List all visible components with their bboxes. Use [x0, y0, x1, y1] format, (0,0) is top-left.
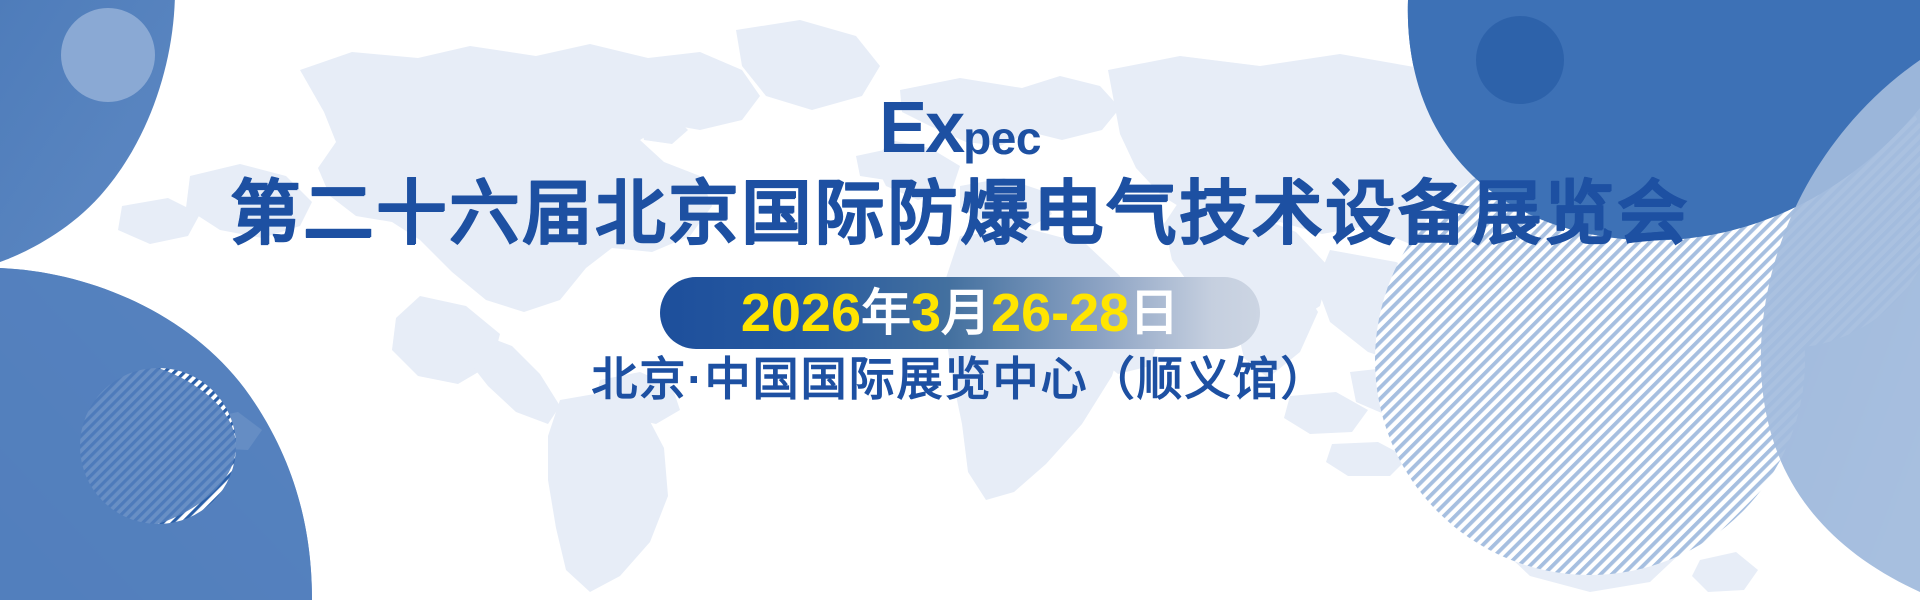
- date-year-unit: 年: [861, 285, 911, 341]
- date-badge-block: 2026年3月26-28日: [0, 277, 1920, 349]
- venue-text: 北京·中国国际展览中心（顺义馆）: [591, 356, 1328, 402]
- page-title: 第二十六届北京国际防爆电气技术设备展览会: [230, 178, 1690, 248]
- expec-logo: Expec: [879, 92, 1041, 164]
- date-day-unit: 日: [1129, 285, 1179, 341]
- logo-text-secondary: pec: [963, 112, 1041, 164]
- expo-banner: Expec 第二十六届北京国际防爆电气技术设备展览会 2026年3月26-28日…: [0, 0, 1920, 600]
- headline-block: 第二十六届北京国际防爆电气技术设备展览会: [0, 178, 1920, 248]
- date-day-range: 26-28: [991, 283, 1129, 343]
- date-badge: 2026年3月26-28日: [660, 277, 1260, 349]
- logo-text-primary: Ex: [879, 88, 963, 168]
- date-month-unit: 月: [941, 285, 991, 341]
- date-year: 2026: [741, 283, 861, 343]
- date-month: 3: [911, 283, 941, 343]
- banner-content: Expec 第二十六届北京国际防爆电气技术设备展览会 2026年3月26-28日…: [0, 0, 1920, 600]
- venue-block: 北京·中国国际展览中心（顺义馆）: [0, 356, 1920, 402]
- logo-block: Expec: [0, 92, 1920, 164]
